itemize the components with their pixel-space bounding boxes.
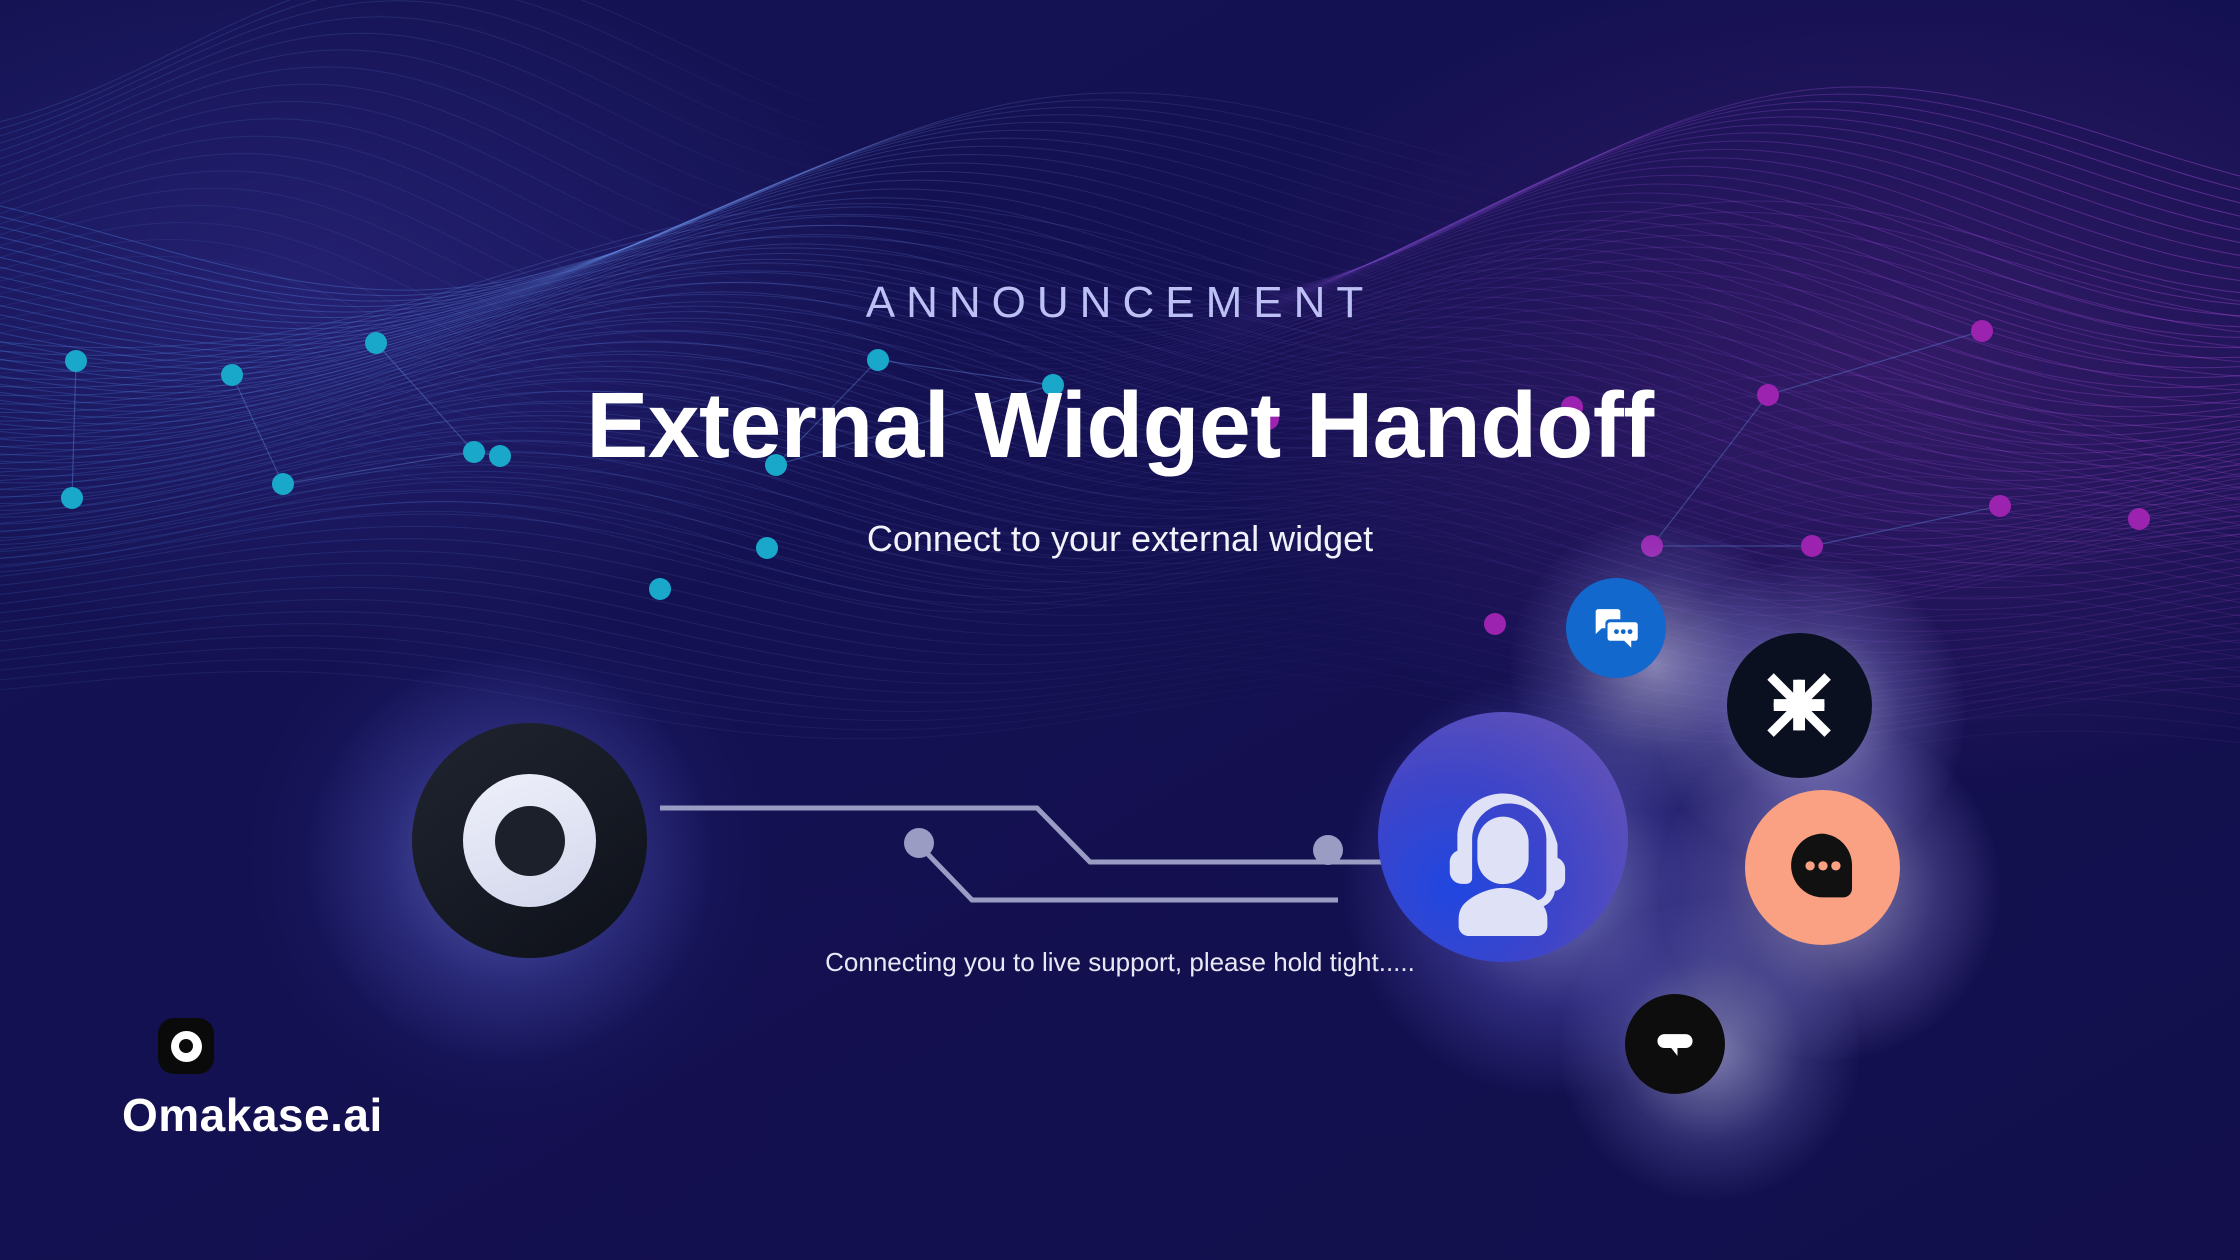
decor-dot <box>1484 613 1506 635</box>
decor-dot <box>867 349 889 371</box>
connector-node-right <box>1313 835 1343 865</box>
widget-kustomer[interactable] <box>1727 633 1872 778</box>
brand-name: Omakase.ai <box>122 1088 383 1142</box>
decor-dot <box>65 350 87 372</box>
announcement-banner: ANNOUNCEMENT External Widget Handoff Con… <box>0 0 2240 1260</box>
omakase-source-node <box>412 723 647 958</box>
eyebrow-label: ANNOUNCEMENT <box>0 278 2240 328</box>
speech-bubble-dots-icon <box>1780 825 1866 911</box>
omakase-core-dot <box>495 806 565 876</box>
connector-node-left <box>904 828 934 858</box>
widget-zendesk[interactable] <box>1625 994 1725 1094</box>
widget-livechat[interactable] <box>1566 578 1666 678</box>
omakase-ring-icon <box>463 774 596 907</box>
decor-dot <box>365 332 387 354</box>
brand-lockup: Omakase.ai <box>122 1018 383 1142</box>
omakase-logo-ring <box>171 1031 202 1062</box>
converging-arrows-icon <box>1753 659 1847 753</box>
omakase-logo-icon <box>158 1018 214 1074</box>
handoff-status-text: Connecting you to live support, please h… <box>0 947 2240 978</box>
decor-dot <box>61 487 83 509</box>
support-agent-headset-icon <box>1428 786 1578 936</box>
decor-dot <box>1989 495 2011 517</box>
support-agent-node <box>1378 712 1628 962</box>
widget-intercom[interactable] <box>1745 790 1900 945</box>
page-title: External Widget Handoff <box>0 372 2240 479</box>
omakase-logo-core <box>179 1039 193 1053</box>
message-bubble-icon <box>1648 1017 1702 1071</box>
page-subtitle: Connect to your external widget <box>0 518 2240 560</box>
decor-dot <box>649 578 671 600</box>
chat-bubbles-icon <box>1587 599 1645 657</box>
